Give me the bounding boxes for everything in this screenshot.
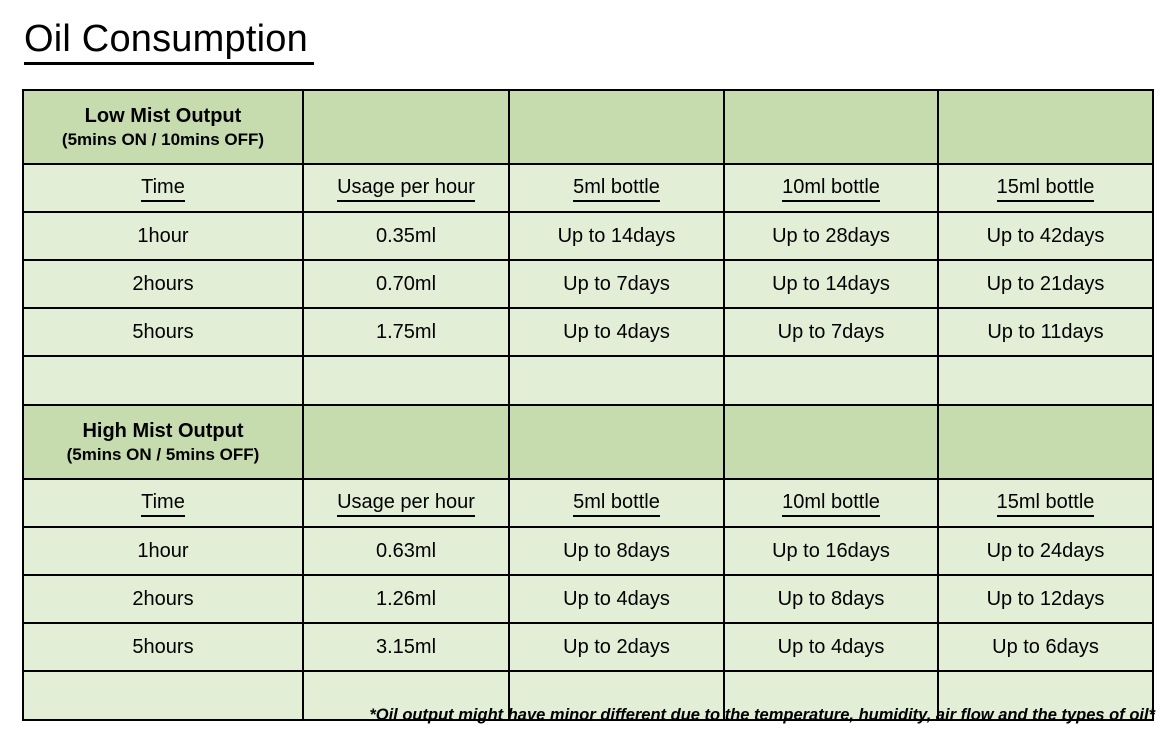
column-header-usage: Usage per hour — [303, 479, 509, 527]
section-header-spacer-cell — [724, 405, 938, 479]
column-header-bottle-5ml: 5ml bottle — [509, 479, 724, 527]
column-header-bottle-10ml-label: 10ml bottle — [782, 490, 880, 517]
cell-bottle-10ml: Up to 14days — [724, 260, 938, 308]
section-header-spacer-cell — [938, 405, 1153, 479]
page-title-container: Oil Consumption — [24, 16, 314, 65]
spacer-cell — [938, 356, 1153, 405]
cell-bottle-5ml: Up to 14days — [509, 212, 724, 260]
cell-time: 5hours — [23, 623, 303, 671]
cell-usage: 0.70ml — [303, 260, 509, 308]
column-header-usage-label: Usage per hour — [337, 175, 475, 202]
oil-consumption-table: Low Mist Output (5mins ON / 10mins OFF) … — [22, 89, 1154, 721]
section-header-spacer-cell — [509, 90, 724, 164]
column-header-bottle-15ml: 15ml bottle — [938, 164, 1153, 212]
spacer-cell — [509, 356, 724, 405]
column-header-bottle-15ml-label: 15ml bottle — [997, 490, 1095, 517]
spacer-cell — [303, 356, 509, 405]
cell-time: 1hour — [23, 212, 303, 260]
section-title-cell-high-mist: High Mist Output (5mins ON / 5mins OFF) — [23, 405, 303, 479]
section-header-row-low-mist: Low Mist Output (5mins ON / 10mins OFF) — [23, 90, 1153, 164]
cell-bottle-5ml: Up to 8days — [509, 527, 724, 575]
column-header-time-label: Time — [141, 490, 185, 517]
column-header-usage: Usage per hour — [303, 164, 509, 212]
cell-bottle-15ml: Up to 12days — [938, 575, 1153, 623]
cell-bottle-5ml: Up to 2days — [509, 623, 724, 671]
cell-bottle-15ml: Up to 24days — [938, 527, 1153, 575]
section-name-low-mist: Low Mist Output — [32, 104, 294, 129]
cell-usage: 1.75ml — [303, 308, 509, 356]
column-header-usage-label: Usage per hour — [337, 490, 475, 517]
cell-time: 2hours — [23, 575, 303, 623]
table-row: 2hours 1.26ml Up to 4days Up to 8days Up… — [23, 575, 1153, 623]
cell-bottle-10ml: Up to 16days — [724, 527, 938, 575]
column-header-bottle-10ml-label: 10ml bottle — [782, 175, 880, 202]
table-row: 1hour 0.63ml Up to 8days Up to 16days Up… — [23, 527, 1153, 575]
cell-bottle-10ml: Up to 4days — [724, 623, 938, 671]
section-cycle-high-mist: (5mins ON / 5mins OFF) — [32, 444, 294, 466]
section-header-row-high-mist: High Mist Output (5mins ON / 5mins OFF) — [23, 405, 1153, 479]
section-header-spacer-cell — [724, 90, 938, 164]
section-header-spacer-cell — [509, 405, 724, 479]
section-title-cell-low-mist: Low Mist Output (5mins ON / 10mins OFF) — [23, 90, 303, 164]
cell-bottle-5ml: Up to 4days — [509, 308, 724, 356]
footnote: *Oil output might have minor different d… — [0, 706, 1155, 725]
column-header-bottle-5ml-label: 5ml bottle — [573, 490, 660, 517]
column-header-bottle-5ml-label: 5ml bottle — [573, 175, 660, 202]
column-header-row-high-mist: Time Usage per hour 5ml bottle 10ml bott… — [23, 479, 1153, 527]
cell-bottle-5ml: Up to 7days — [509, 260, 724, 308]
table-row: 2hours 0.70ml Up to 7days Up to 14days U… — [23, 260, 1153, 308]
spacer-cell — [724, 356, 938, 405]
cell-usage: 0.63ml — [303, 527, 509, 575]
cell-bottle-10ml: Up to 8days — [724, 575, 938, 623]
column-header-time-label: Time — [141, 175, 185, 202]
spacer-cell — [23, 356, 303, 405]
table-row: 1hour 0.35ml Up to 14days Up to 28days U… — [23, 212, 1153, 260]
cell-time: 1hour — [23, 527, 303, 575]
table-spacer-row — [23, 356, 1153, 405]
cell-usage: 3.15ml — [303, 623, 509, 671]
page-title: Oil Consumption — [24, 16, 314, 65]
section-header-spacer-cell — [303, 90, 509, 164]
cell-bottle-5ml: Up to 4days — [509, 575, 724, 623]
table-row: 5hours 3.15ml Up to 2days Up to 4days Up… — [23, 623, 1153, 671]
document-page: Oil Consumption Low Mist Output (5mins O… — [0, 0, 1163, 750]
table-row: 5hours 1.75ml Up to 4days Up to 7days Up… — [23, 308, 1153, 356]
section-header-spacer-cell — [303, 405, 509, 479]
cell-bottle-15ml: Up to 6days — [938, 623, 1153, 671]
column-header-bottle-10ml: 10ml bottle — [724, 164, 938, 212]
cell-time: 2hours — [23, 260, 303, 308]
column-header-row-low-mist: Time Usage per hour 5ml bottle 10ml bott… — [23, 164, 1153, 212]
cell-bottle-15ml: Up to 11days — [938, 308, 1153, 356]
column-header-time: Time — [23, 164, 303, 212]
cell-usage: 1.26ml — [303, 575, 509, 623]
cell-bottle-15ml: Up to 42days — [938, 212, 1153, 260]
section-cycle-low-mist: (5mins ON / 10mins OFF) — [32, 129, 294, 151]
cell-bottle-15ml: Up to 21days — [938, 260, 1153, 308]
oil-consumption-table-container: Low Mist Output (5mins ON / 10mins OFF) … — [22, 89, 1152, 721]
section-header-spacer-cell — [938, 90, 1153, 164]
column-header-bottle-10ml: 10ml bottle — [724, 479, 938, 527]
column-header-bottle-15ml: 15ml bottle — [938, 479, 1153, 527]
section-name-high-mist: High Mist Output — [32, 419, 294, 444]
column-header-bottle-15ml-label: 15ml bottle — [997, 175, 1095, 202]
cell-time: 5hours — [23, 308, 303, 356]
cell-bottle-10ml: Up to 28days — [724, 212, 938, 260]
column-header-time: Time — [23, 479, 303, 527]
column-header-bottle-5ml: 5ml bottle — [509, 164, 724, 212]
cell-usage: 0.35ml — [303, 212, 509, 260]
cell-bottle-10ml: Up to 7days — [724, 308, 938, 356]
